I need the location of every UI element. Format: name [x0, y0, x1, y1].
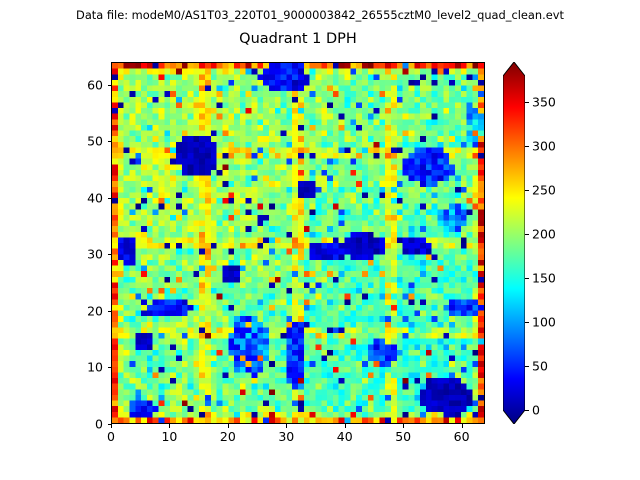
y-tick-mark: [108, 85, 112, 86]
x-tick-mark: [111, 424, 112, 428]
y-tick-mark: [108, 254, 112, 255]
x-tick-mark: [345, 424, 346, 428]
colorbar-tick-mark: [525, 190, 529, 191]
x-tick-mark: [228, 424, 229, 428]
x-tick-label: 40: [337, 429, 353, 444]
x-tick-label: 60: [454, 429, 470, 444]
heatmap-axes: [111, 62, 485, 424]
colorbar-tick-mark: [525, 278, 529, 279]
x-tick-label: 30: [278, 429, 294, 444]
x-tick-label: 0: [107, 429, 115, 444]
colorbar-tick-mark: [525, 234, 529, 235]
x-tick-mark: [286, 424, 287, 428]
matplotlib-figure: Data file: modeM0/AS1T03_220T01_90000038…: [0, 0, 640, 480]
x-tick-mark: [462, 424, 463, 428]
colorbar-tick-mark: [525, 410, 529, 411]
y-tick-label: 60: [87, 77, 103, 92]
colorbar-tick-label: 300: [532, 139, 556, 154]
colorbar-tick-label: 250: [532, 183, 556, 198]
data-file-suptitle: Data file: modeM0/AS1T03_220T01_90000038…: [0, 8, 640, 22]
y-tick-label: 20: [87, 303, 103, 318]
x-tick-mark: [403, 424, 404, 428]
dph-heatmap-image: [112, 63, 484, 423]
y-tick-label: 10: [87, 360, 103, 375]
y-tick-label: 30: [87, 247, 103, 262]
colorbar-tick-mark: [525, 322, 529, 323]
x-tick-mark: [169, 424, 170, 428]
colorbar-tick-label: 150: [532, 271, 556, 286]
x-tick-label: 20: [220, 429, 236, 444]
y-tick-label: 40: [87, 190, 103, 205]
y-tick-label: 50: [87, 134, 103, 149]
plot-title: Quadrant 1 DPH: [111, 31, 485, 47]
colorbar-tick-label: 100: [532, 315, 556, 330]
colorbar-tick-label: 50: [532, 359, 548, 374]
colorbar: [503, 62, 525, 424]
colorbar-tick-label: 350: [532, 95, 556, 110]
colorbar-tick-mark: [525, 146, 529, 147]
y-tick-mark: [108, 367, 112, 368]
colorbar-tick-mark: [525, 102, 529, 103]
x-tick-label: 10: [161, 429, 177, 444]
colorbar-tick-mark: [525, 366, 529, 367]
colorbar-gradient: [503, 62, 525, 424]
y-tick-mark: [108, 424, 112, 425]
colorbar-body: [503, 62, 525, 424]
x-tick-label: 50: [395, 429, 411, 444]
colorbar-tick-label: 200: [532, 227, 556, 242]
colorbar-tick-label: 0: [532, 403, 540, 418]
y-tick-mark: [108, 141, 112, 142]
y-tick-mark: [108, 311, 112, 312]
y-tick-mark: [108, 198, 112, 199]
y-tick-label: 0: [95, 417, 103, 432]
